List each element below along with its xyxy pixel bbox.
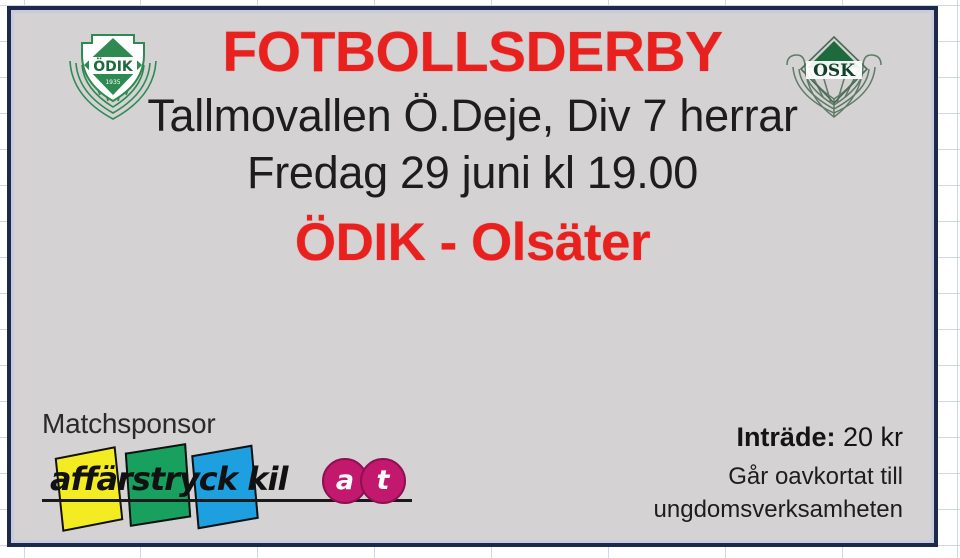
venue-line: Tallmovallen Ö.Deje, Div 7 herrar (14, 89, 931, 144)
entry-note-line-1: Går oavkortat till (543, 461, 903, 493)
entry-price-label: Inträde: (736, 422, 835, 452)
poster-frame: ÖDIK 1935 OSK FOTBOLLSDERBY Tallmovallen… (7, 6, 938, 547)
page-title: FOTBOLLSDERBY (14, 23, 931, 81)
date-time-line: Fredag 29 juni kl 19.00 (14, 146, 931, 201)
sponsor-label: Matchsponsor (42, 408, 442, 440)
sponsor-wordmark: affärstryck kil (50, 460, 287, 498)
entry-info-area: Inträde: 20 kr Går oavkortat till ungdom… (543, 420, 903, 526)
poster-headline-block: FOTBOLLSDERBY Tallmovallen Ö.Deje, Div 7… (14, 23, 931, 275)
poster-canvas: ÖDIK 1935 OSK FOTBOLLSDERBY Tallmovallen… (14, 13, 931, 540)
match-fixture-line: ÖDIK - Olsäter (14, 211, 931, 275)
affarstryck-kil-logo[interactable]: affärstryck kil a t (42, 446, 427, 526)
entry-price-row: Inträde: 20 kr (543, 420, 903, 455)
grid-line-vertical (957, 0, 958, 558)
entry-price-value: 20 kr (843, 422, 903, 452)
entry-note-line-2: ungdomsverksamheten (543, 494, 903, 526)
badge-t-icon: t (360, 458, 406, 504)
sponsor-area: Matchsponsor affärstryck kil a t (42, 408, 442, 526)
